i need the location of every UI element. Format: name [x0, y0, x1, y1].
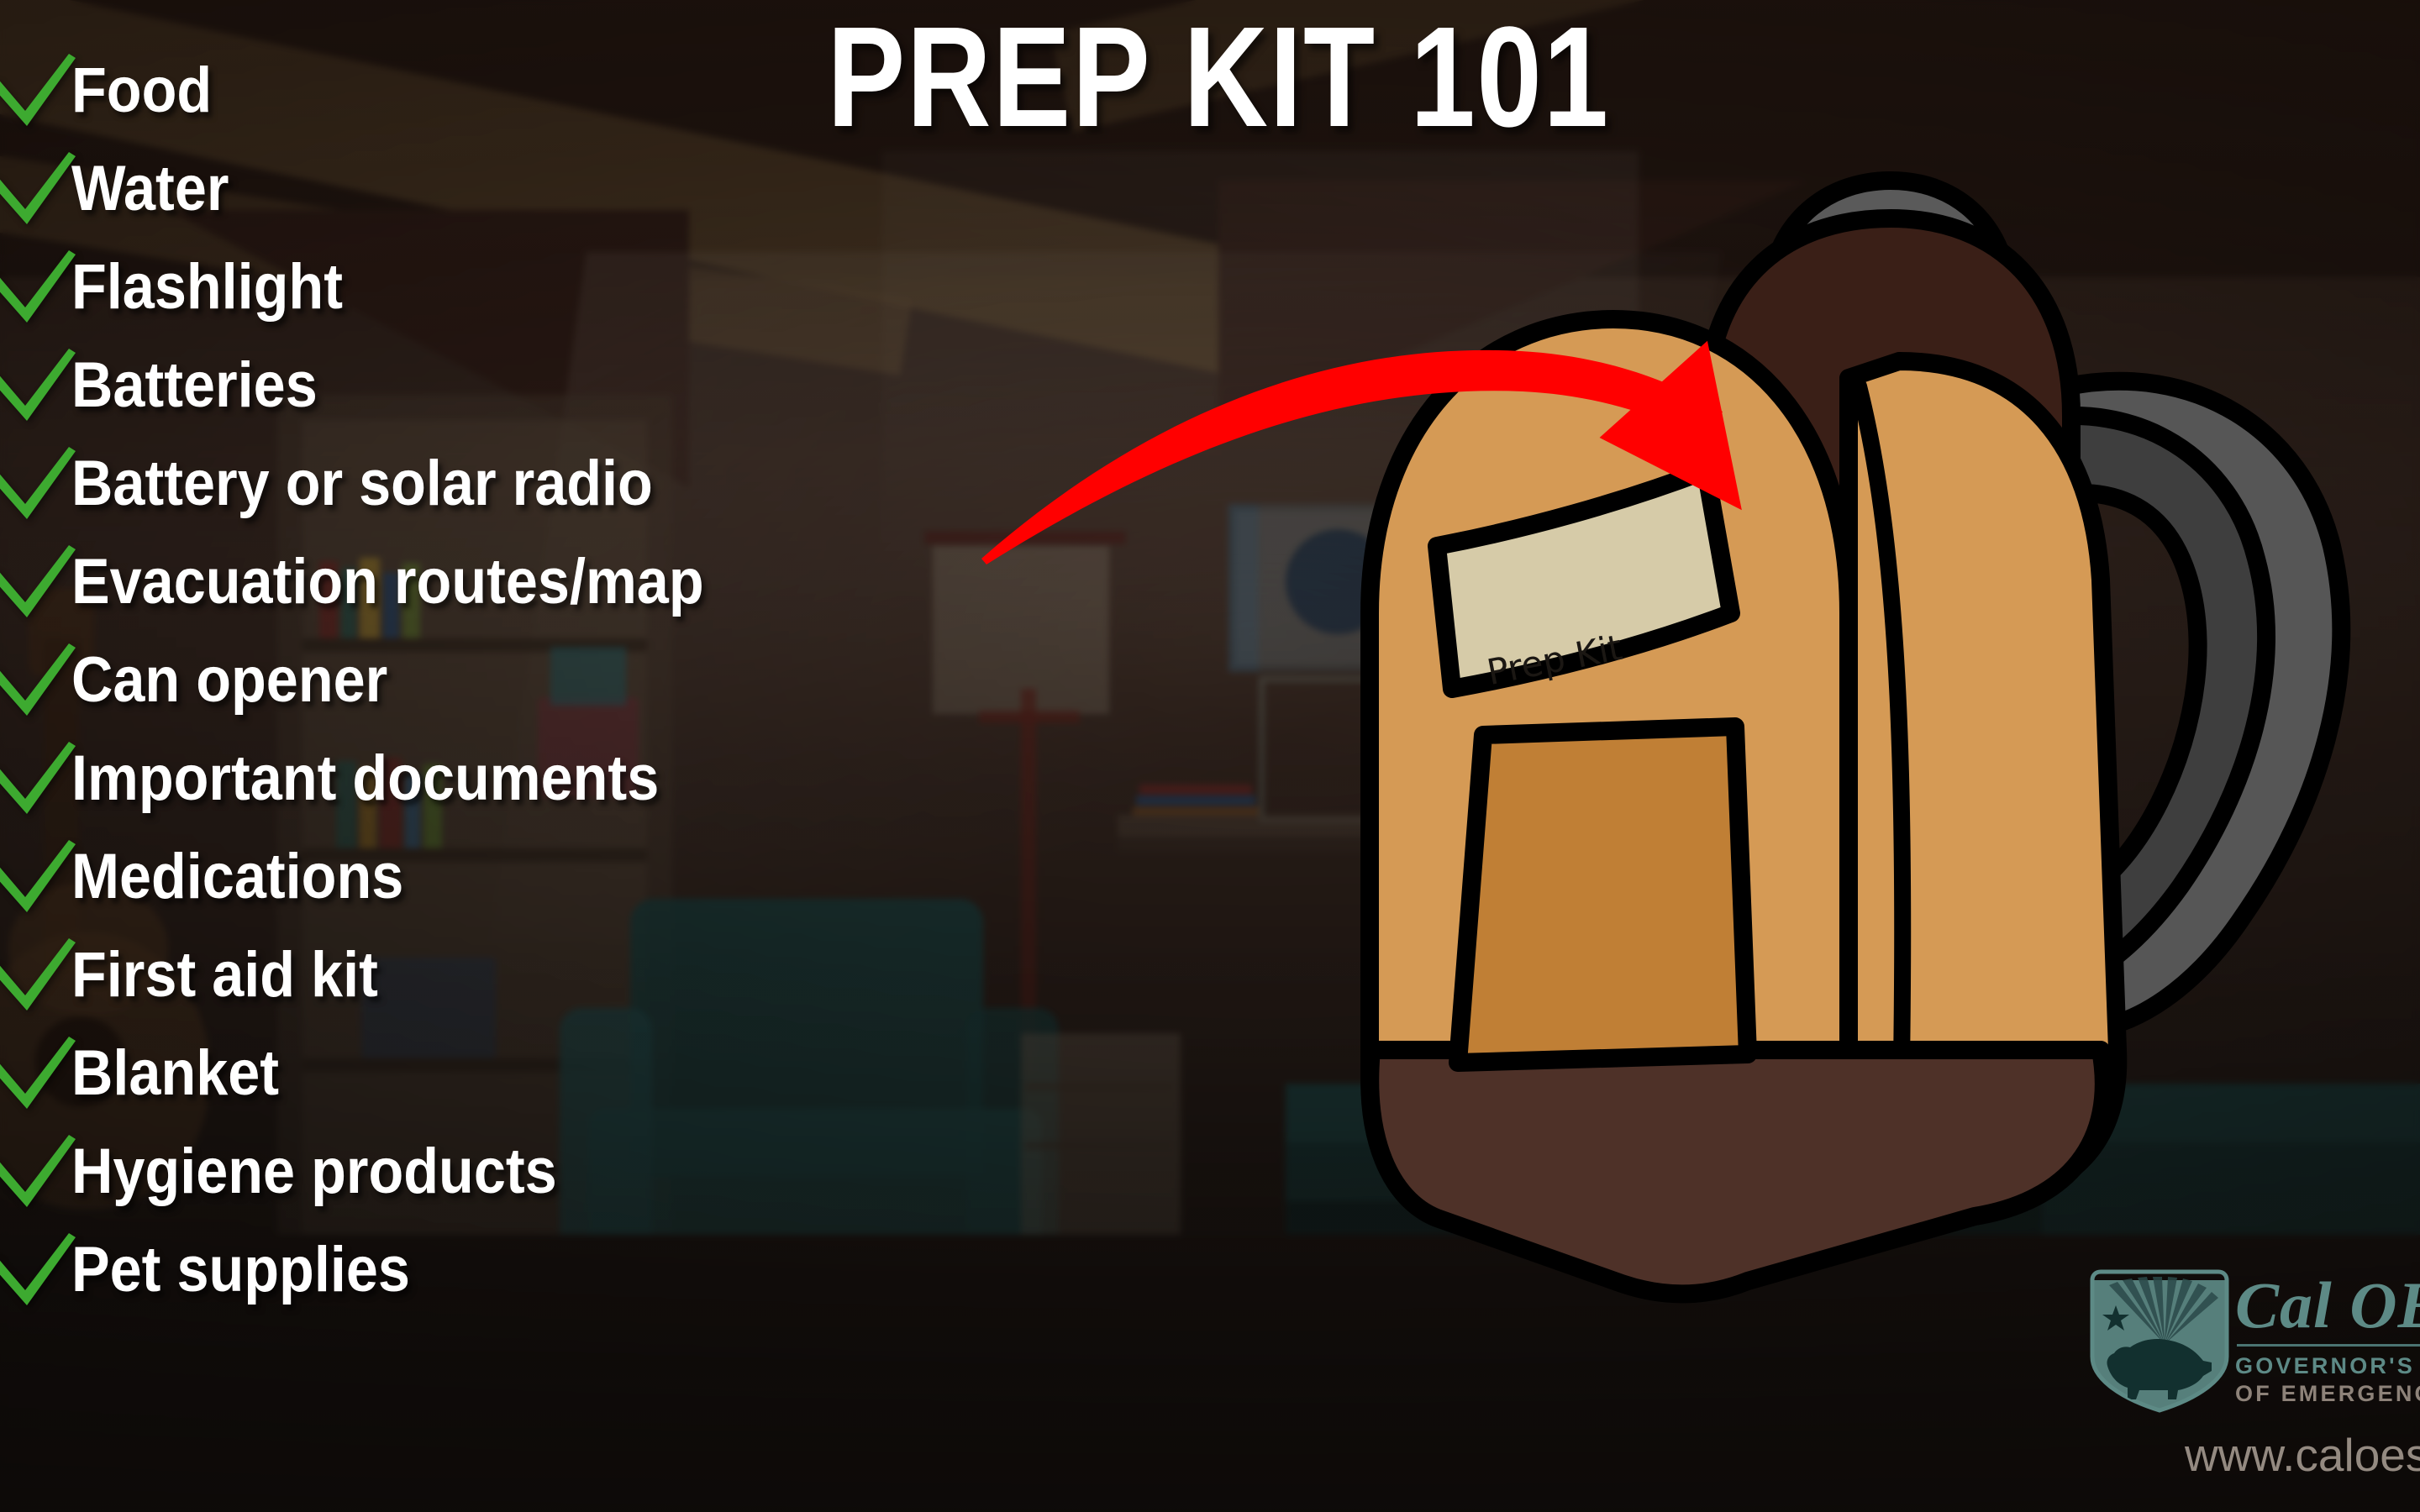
checklist-item-label: Medications	[71, 843, 403, 911]
checklist-item-label: Hygiene products	[71, 1138, 557, 1205]
prep-kit-tag-wrap: Prep Kit	[1428, 601, 1681, 718]
logo-subline-1: GOVERNOR'S OFFICE	[2235, 1352, 2420, 1380]
green-check-icon	[0, 538, 81, 631]
green-check-icon	[0, 637, 81, 729]
prep-kit-checklist: FoodWaterFlashlightBatteriesBattery or s…	[0, 50, 1050, 1328]
logo-subline-2: OF EMERGENCY SERVICES	[2235, 1380, 2420, 1408]
cal-oes-wordmark: Cal OES	[2235, 1270, 2420, 1341]
green-check-icon	[0, 1030, 81, 1122]
green-check-icon	[0, 1128, 81, 1221]
green-check-icon	[0, 932, 81, 1024]
checklist-item-label: First aid kit	[71, 942, 378, 1009]
checklist-item-label: Blanket	[71, 1040, 279, 1107]
checklist-row: Battery or solar radio	[0, 444, 1050, 542]
checklist-item-label: Evacuation routes/map	[71, 549, 704, 616]
backpack-front-pocket	[1458, 727, 1748, 1063]
green-check-icon	[0, 440, 81, 533]
checklist-row: Important documents	[0, 738, 1050, 837]
green-check-icon	[0, 342, 81, 434]
checklist-row: Food	[0, 50, 1050, 149]
checklist-row: Batteries	[0, 345, 1050, 444]
checklist-item-label: Can opener	[71, 647, 387, 714]
checklist-row: Evacuation routes/map	[0, 542, 1050, 640]
backpack-base-band	[1370, 1050, 2104, 1294]
green-check-icon	[0, 145, 81, 238]
green-check-icon	[0, 47, 81, 139]
checklist-row: Flashlight	[0, 247, 1050, 345]
checklist-item-label: Flashlight	[71, 254, 343, 321]
checklist-row: Water	[0, 149, 1050, 247]
checklist-item-label: Battery or solar radio	[71, 450, 653, 517]
checklist-item-label: Pet supplies	[71, 1236, 410, 1304]
checklist-row: Pet supplies	[0, 1230, 1050, 1328]
checklist-row: Medications	[0, 837, 1050, 935]
website-url: www.caloes.ca.	[2185, 1428, 2420, 1482]
checklist-row: Hygiene products	[0, 1131, 1050, 1230]
california-bear-shield-icon	[2084, 1268, 2235, 1415]
green-check-icon	[0, 244, 81, 336]
checklist-item-label: Batteries	[71, 352, 318, 419]
checklist-row: First aid kit	[0, 935, 1050, 1033]
checklist-item-label: Water	[71, 155, 229, 223]
checklist-row: Blanket	[0, 1033, 1050, 1131]
green-check-icon	[0, 735, 81, 827]
checklist-item-label: Food	[71, 57, 212, 124]
green-check-icon	[0, 1226, 81, 1319]
green-check-icon	[0, 833, 81, 926]
cal-oes-wordmark-block: Cal OES GOVERNOR'S OFFICE OF EMERGENCY S…	[2235, 1270, 2420, 1408]
prep-kit-tag-label: Prep Kit	[1419, 578, 1689, 742]
prep-kit-poster: PREP KIT 101 FoodWaterFlashlightBatterie…	[0, 0, 2420, 1512]
checklist-item-label: Important documents	[71, 745, 659, 812]
checklist-row: Can opener	[0, 640, 1050, 738]
logo-divider	[2237, 1344, 2420, 1347]
